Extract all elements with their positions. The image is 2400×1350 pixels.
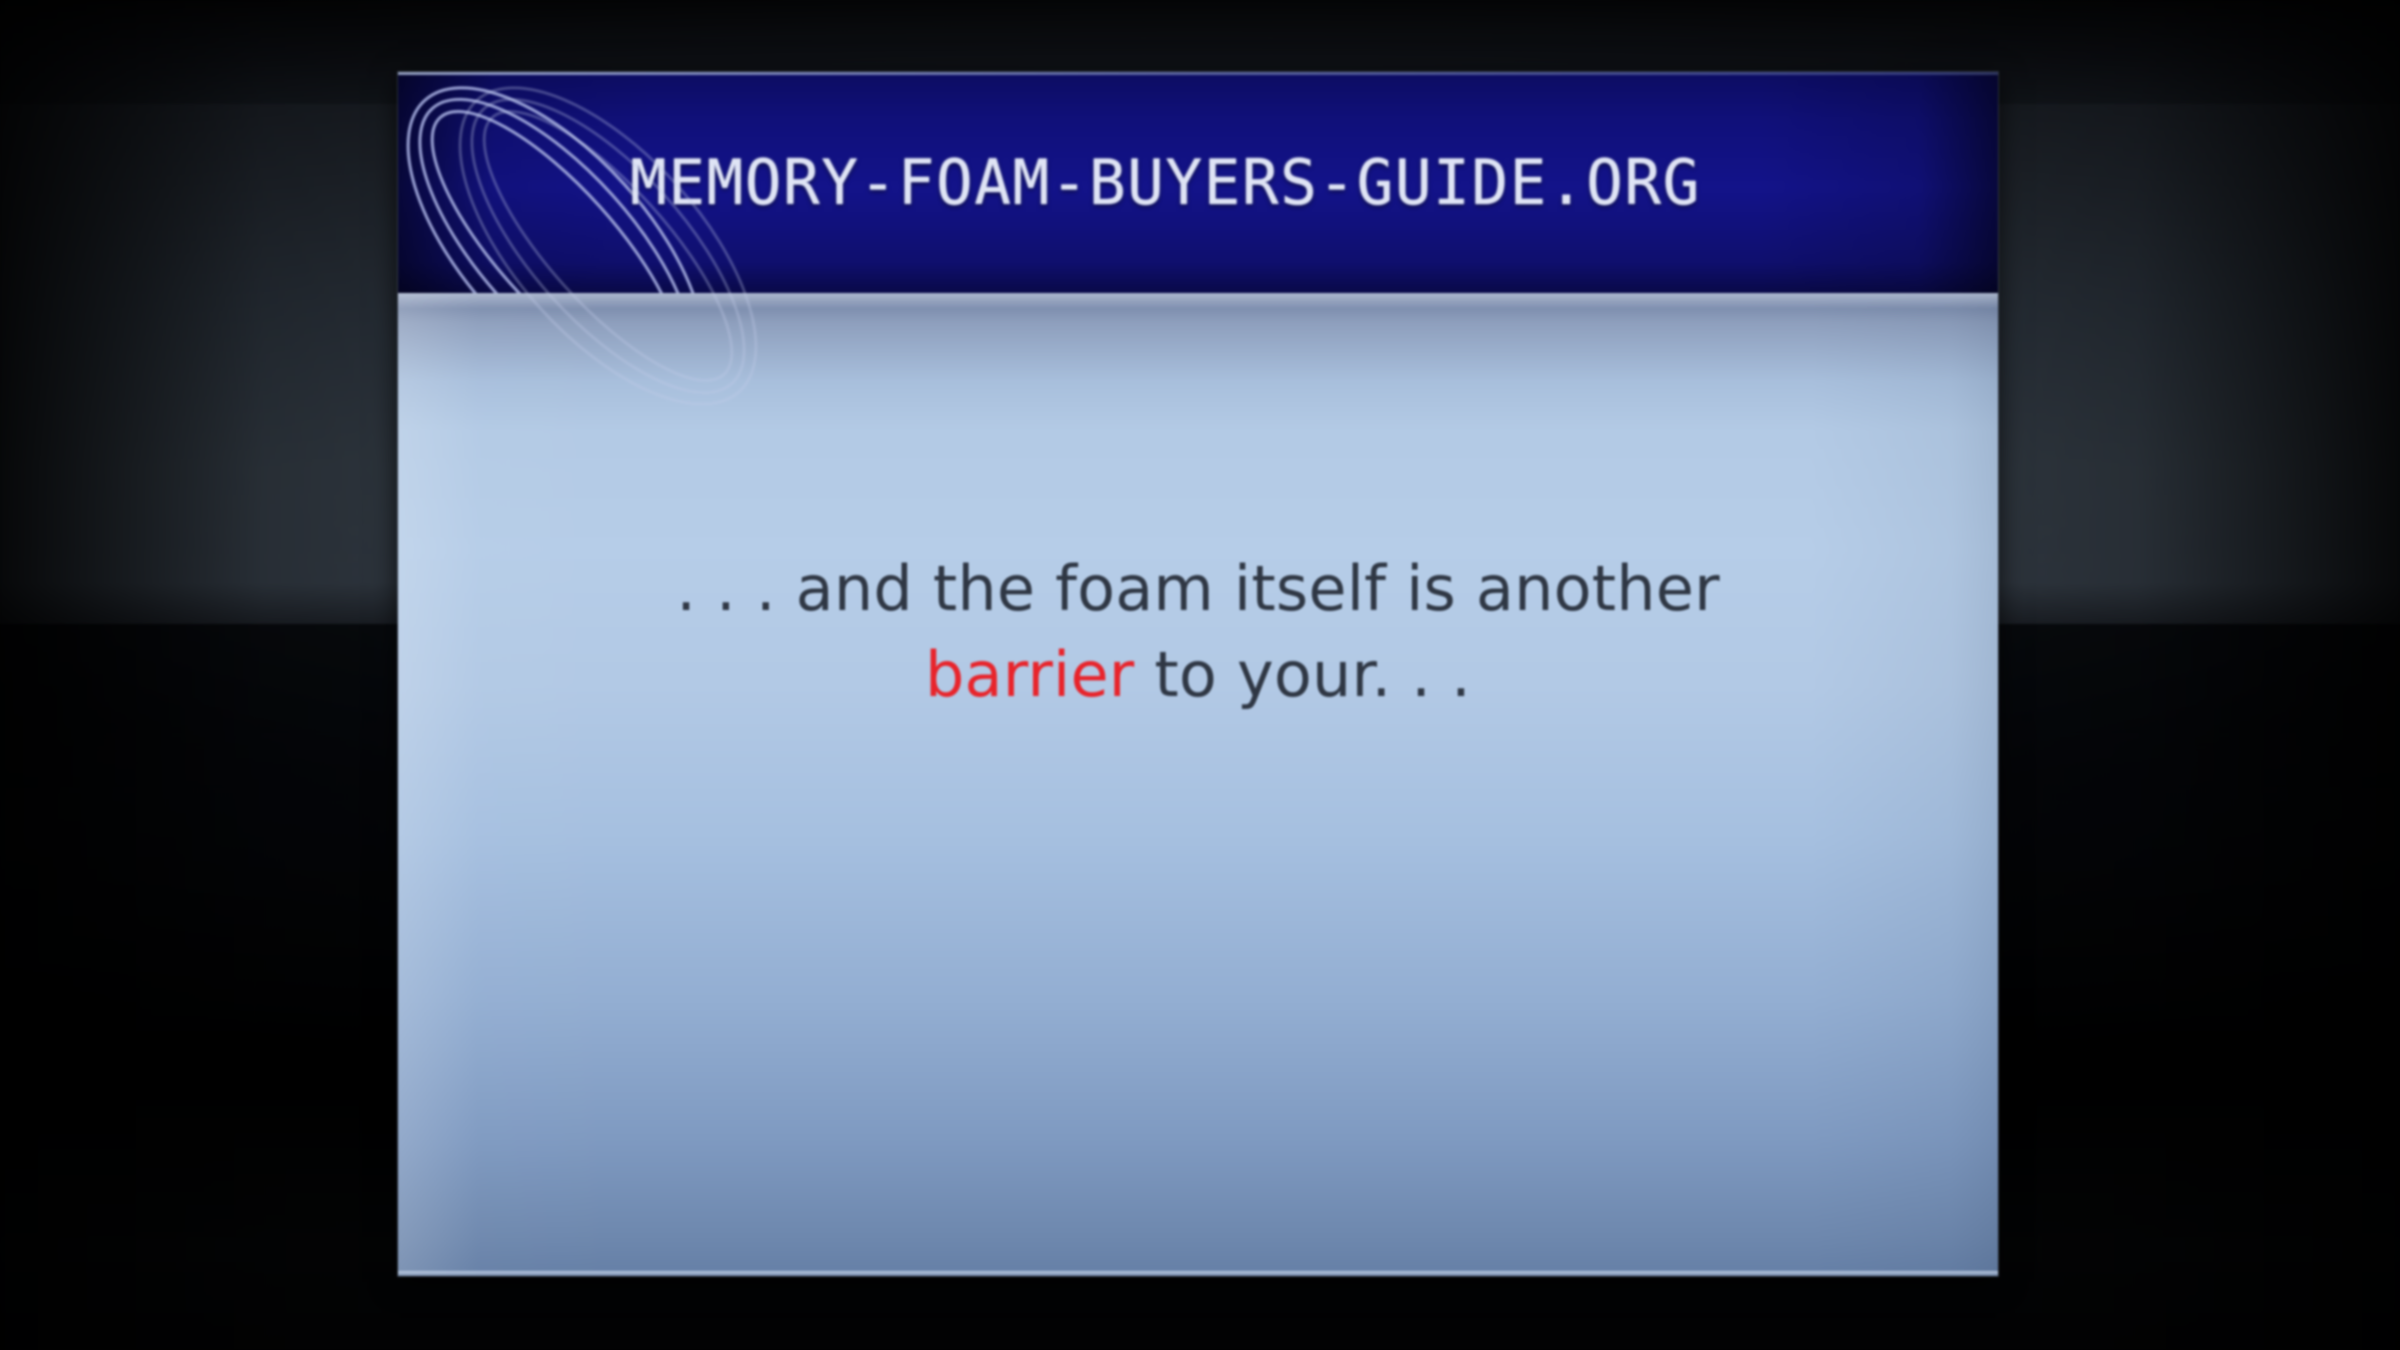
caption-block: . . . and the foam itself is another bar… xyxy=(398,546,1998,718)
caption-line-1: . . . and the foam itself is another xyxy=(398,546,1998,632)
video-stage: MEMORY-FOAM-BUYERS-GUIDE.ORG . . . and t… xyxy=(0,0,2400,1350)
slide-card: MEMORY-FOAM-BUYERS-GUIDE.ORG . . . and t… xyxy=(398,72,1998,1276)
body-top-highlight xyxy=(398,293,1998,309)
slide-body: . . . and the foam itself is another bar… xyxy=(398,293,1998,1276)
slide-bottom-edge xyxy=(398,1271,1998,1276)
caption-line-2-tail: to your. . . xyxy=(1134,638,1471,711)
caption-accent-word: barrier xyxy=(925,638,1135,711)
site-title: MEMORY-FOAM-BUYERS-GUIDE.ORG xyxy=(630,72,1952,293)
slide-header: MEMORY-FOAM-BUYERS-GUIDE.ORG xyxy=(398,72,1998,293)
caption-line-2: barrier to your. . . xyxy=(398,632,1998,718)
